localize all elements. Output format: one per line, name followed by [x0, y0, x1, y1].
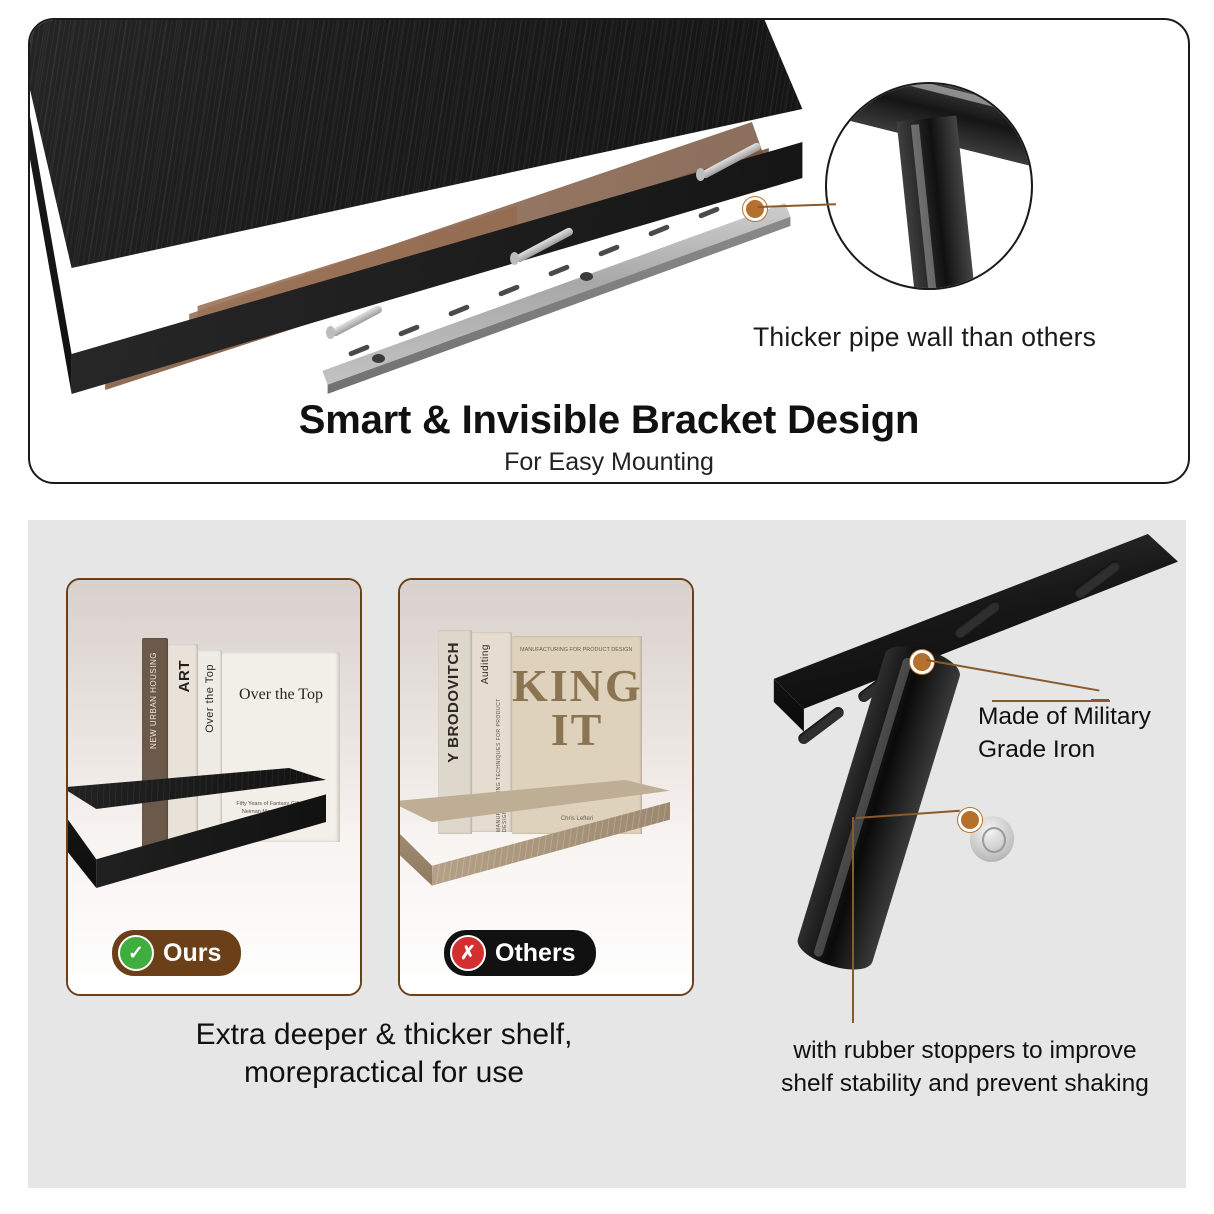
book-title: Auditing	[480, 644, 491, 684]
rail-slot	[398, 324, 420, 337]
leader-dot-thicker-pipe	[743, 197, 767, 221]
others-scene: Y BRODOVITCH Auditing MANUFACTURING TECH…	[400, 580, 692, 994]
rail-hole	[372, 354, 385, 363]
bracket-photo	[718, 530, 1186, 1050]
rail-slot	[548, 264, 570, 277]
book-title: Y BRODOVITCH	[445, 642, 462, 763]
callout-military-grade-line1: Made of Military	[978, 700, 1151, 733]
page-title: Smart & Invisible Bracket Design	[30, 398, 1188, 443]
rail-slot	[698, 206, 720, 219]
leader-dot-rubber-stopper	[958, 808, 982, 832]
callout-thicker-pipe-label: Thicker pipe wall than others	[753, 322, 1096, 353]
status-badge-label: Ours	[163, 939, 221, 968]
callout-rubber-stopper-line2: shelf stability and prevent shaking	[760, 1067, 1170, 1100]
book-cover-title: KING IT	[512, 664, 642, 751]
cross-icon: ✗	[450, 935, 486, 971]
callout-rubber-stopper: with rubber stoppers to improve shelf st…	[760, 1034, 1170, 1100]
rail-slot	[648, 224, 670, 237]
pipe-wall-magnifier	[825, 82, 1033, 290]
leader-line-rubber-b	[852, 817, 854, 1023]
list-item: Over the Top	[198, 650, 222, 842]
comparison-caption-line1: Extra deeper & thicker shelf,	[64, 1016, 704, 1054]
list-item: NEW URBAN HOUSING	[142, 638, 168, 846]
ours-scene: NEW URBAN HOUSING ART Over the Top Over …	[68, 580, 360, 994]
rail-slot	[598, 244, 620, 257]
check-icon: ✓	[118, 935, 154, 971]
status-badge-label: Others	[495, 939, 576, 968]
book-title: Over the Top	[204, 664, 216, 733]
status-badge-others: ✗ Others	[444, 930, 596, 976]
bracket-pin-cap	[326, 326, 335, 339]
status-badge-ours: ✓ Ours	[112, 930, 241, 976]
callout-military-grade-line2: Grade Iron	[978, 733, 1151, 766]
comparison-card-others: Y BRODOVITCH Auditing MANUFACTURING TECH…	[398, 578, 694, 996]
bracket-design-panel: Thicker pipe wall than others Smart & In…	[28, 18, 1190, 484]
list-item: ART	[168, 644, 198, 844]
rail-hole	[580, 272, 593, 281]
rubber-stopper-ring	[982, 827, 1006, 853]
page-subtitle: For Easy Mounting	[30, 448, 1188, 477]
comparison-card-ours: NEW URBAN HOUSING ART Over the Top Over …	[66, 578, 362, 996]
book-title: NEW URBAN HOUSING	[149, 652, 158, 749]
bracket-pin-cap	[510, 252, 519, 265]
book-title: ART	[176, 660, 193, 692]
callout-military-grade: Made of Military Grade Iron	[978, 700, 1151, 766]
leader-dot-military-grade	[910, 650, 934, 674]
book-cover-title: Over the Top	[222, 686, 340, 704]
rail-slot	[448, 304, 470, 317]
callout-rubber-stopper-line1: with rubber stoppers to improve	[760, 1034, 1170, 1067]
rail-slot	[498, 284, 520, 297]
comparison-caption-line2: morepractical for use	[64, 1054, 704, 1092]
bracket-pin-cap	[696, 168, 705, 181]
comparison-caption: Extra deeper & thicker shelf, morepracti…	[64, 1016, 704, 1091]
book-cover-subtitle: MANUFACTURING FOR PRODUCT DESIGN	[520, 646, 632, 655]
